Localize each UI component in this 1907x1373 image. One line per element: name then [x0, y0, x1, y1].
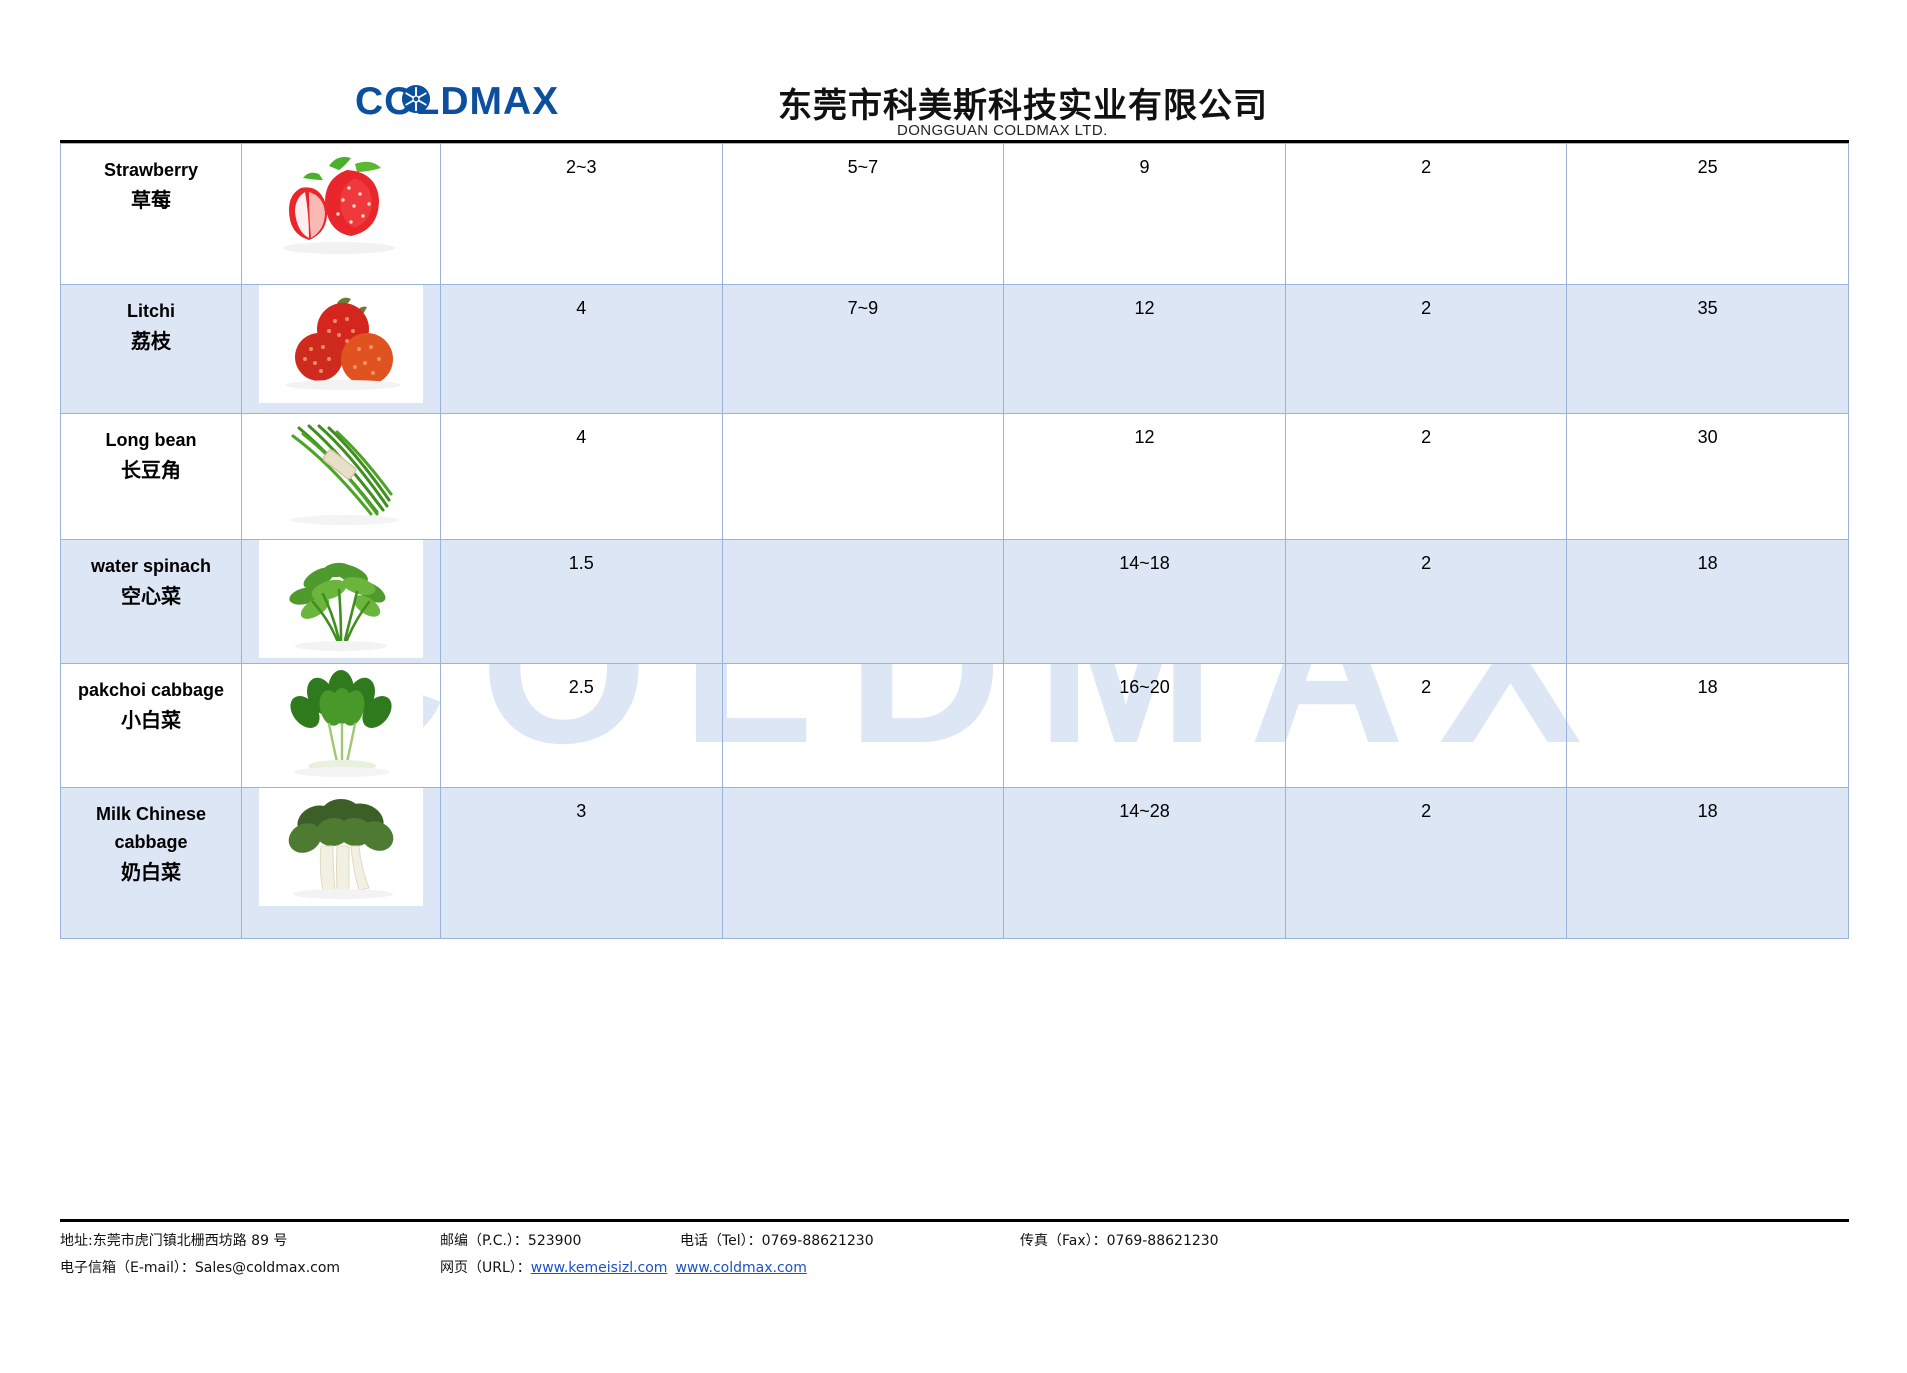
milk-chinese-cabbage-photo — [259, 788, 423, 906]
product-value-3: 16~20 — [1004, 664, 1286, 788]
product-value-4: 2 — [1285, 664, 1567, 788]
product-value-1: 4 — [441, 285, 723, 414]
product-value-2 — [722, 664, 1004, 788]
footer-fax: 传真（Fax）：0769-88621230 — [1020, 1228, 1320, 1255]
product-name-en: pakchoi cabbage — [61, 677, 241, 705]
product-name-cn: 荔枝 — [61, 326, 241, 357]
product-value-2: 7~9 — [722, 285, 1004, 414]
table-row: Long bean 长豆角 — [61, 414, 1849, 540]
footer-url-group: 网页（URL）：www.kemeisizl.comwww.coldmax.com — [440, 1255, 807, 1282]
product-name-cell: water spinach 空心菜 — [61, 540, 242, 664]
footer-url-label: 网页（URL）： — [440, 1260, 531, 1276]
product-name-cn: 空心菜 — [61, 581, 241, 612]
company-name-en: DONGGUAN COLDMAX LTD. — [897, 122, 1108, 139]
product-table: Strawberry 草莓 — [60, 143, 1849, 939]
product-value-3: 14~18 — [1004, 540, 1286, 664]
product-value-3: 12 — [1004, 414, 1286, 540]
product-value-2 — [722, 540, 1004, 664]
product-name-cn: 草莓 — [61, 185, 241, 216]
footer-line-1: 地址:东莞市虎门镇北栅西坊路 89 号 邮编（P.C.）：523900 电话（T… — [60, 1228, 1849, 1255]
footer-url-kemeisizl[interactable]: www.kemeisizl.com — [531, 1260, 668, 1276]
document-page: COLDMAX COLDMAX 东莞市科美斯科技实业有限公司 DONGGUAN … — [0, 0, 1907, 1373]
product-value-5: 25 — [1567, 144, 1849, 285]
product-value-1: 2.5 — [441, 664, 723, 788]
table-row: water spinach 空心菜 — [61, 540, 1849, 664]
product-name-cn: 长豆角 — [61, 455, 241, 486]
product-value-5: 18 — [1567, 540, 1849, 664]
document-header: COLDMAX 东莞市科美斯科技实业有限公司 DONGGUAN COLDMAX … — [0, 78, 1907, 146]
product-table-body: Strawberry 草莓 — [61, 144, 1849, 939]
product-value-1: 4 — [441, 414, 723, 540]
product-value-4: 2 — [1285, 285, 1567, 414]
table-row: Milk Chinese cabbage 奶白菜 — [61, 788, 1849, 939]
product-value-5: 18 — [1567, 788, 1849, 939]
footer-postcode: 邮编（P.C.）：523900 — [440, 1228, 680, 1255]
snowflake-icon — [401, 84, 431, 114]
pakchoi-cabbage-photo — [259, 664, 423, 782]
product-name-cn: 小白菜 — [61, 705, 241, 736]
product-value-3: 14~28 — [1004, 788, 1286, 939]
footer-address: 地址:东莞市虎门镇北栅西坊路 89 号 — [60, 1228, 440, 1255]
product-value-5: 30 — [1567, 414, 1849, 540]
product-value-2 — [722, 414, 1004, 540]
footer-divider — [60, 1219, 1849, 1222]
product-value-5: 18 — [1567, 664, 1849, 788]
litchi-photo — [259, 285, 423, 403]
table-row: pakchoi cabbage 小白菜 — [61, 664, 1849, 788]
product-value-3: 12 — [1004, 285, 1286, 414]
strawberry-photo — [259, 144, 423, 262]
footer-url-coldmax[interactable]: www.coldmax.com — [675, 1260, 806, 1276]
product-name-en: Litchi — [61, 298, 241, 326]
product-value-1: 2~3 — [441, 144, 723, 285]
product-value-5: 35 — [1567, 285, 1849, 414]
product-value-2 — [722, 788, 1004, 939]
product-name-cn: 奶白菜 — [61, 857, 241, 888]
product-name-en: Long bean — [61, 427, 241, 455]
product-value-2: 5~7 — [722, 144, 1004, 285]
product-image-cell — [242, 414, 441, 540]
product-name-cell: Litchi 荔枝 — [61, 285, 242, 414]
product-name-cell: Milk Chinese cabbage 奶白菜 — [61, 788, 242, 939]
product-value-1: 1.5 — [441, 540, 723, 664]
product-value-1: 3 — [441, 788, 723, 939]
company-name-cn: 东莞市科美斯科技实业有限公司 — [778, 78, 1268, 127]
logo-wordmark: COLDMAX — [355, 82, 559, 121]
header-divider — [60, 140, 1849, 143]
product-image-cell — [242, 144, 441, 285]
product-image-cell — [242, 540, 441, 664]
table-row: Litchi 荔枝 — [61, 285, 1849, 414]
long-bean-photo — [259, 414, 423, 532]
product-image-cell — [242, 285, 441, 414]
product-value-4: 2 — [1285, 414, 1567, 540]
coldmax-logo: COLDMAX — [355, 82, 559, 121]
product-name-cell: Long bean 长豆角 — [61, 414, 242, 540]
product-image-cell — [242, 788, 441, 939]
footer-email: 电子信箱（E-mail）：Sales@coldmax.com — [60, 1255, 440, 1282]
table-row: Strawberry 草莓 — [61, 144, 1849, 285]
product-image-cell — [242, 664, 441, 788]
product-value-4: 2 — [1285, 540, 1567, 664]
product-name-en: Strawberry — [61, 157, 241, 185]
product-value-3: 9 — [1004, 144, 1286, 285]
footer-line-2: 电子信箱（E-mail）：Sales@coldmax.com 网页（URL）：w… — [60, 1255, 1849, 1282]
product-value-4: 2 — [1285, 788, 1567, 939]
product-name-cell: Strawberry 草莓 — [61, 144, 242, 285]
document-footer: 地址:东莞市虎门镇北栅西坊路 89 号 邮编（P.C.）：523900 电话（T… — [60, 1228, 1849, 1283]
footer-telephone: 电话（Tel）：0769-88621230 — [680, 1228, 1020, 1255]
product-name-en: water spinach — [61, 553, 241, 581]
product-name-en: Milk Chinese cabbage — [61, 801, 241, 857]
product-value-4: 2 — [1285, 144, 1567, 285]
water-spinach-photo — [259, 540, 423, 658]
product-name-cell: pakchoi cabbage 小白菜 — [61, 664, 242, 788]
